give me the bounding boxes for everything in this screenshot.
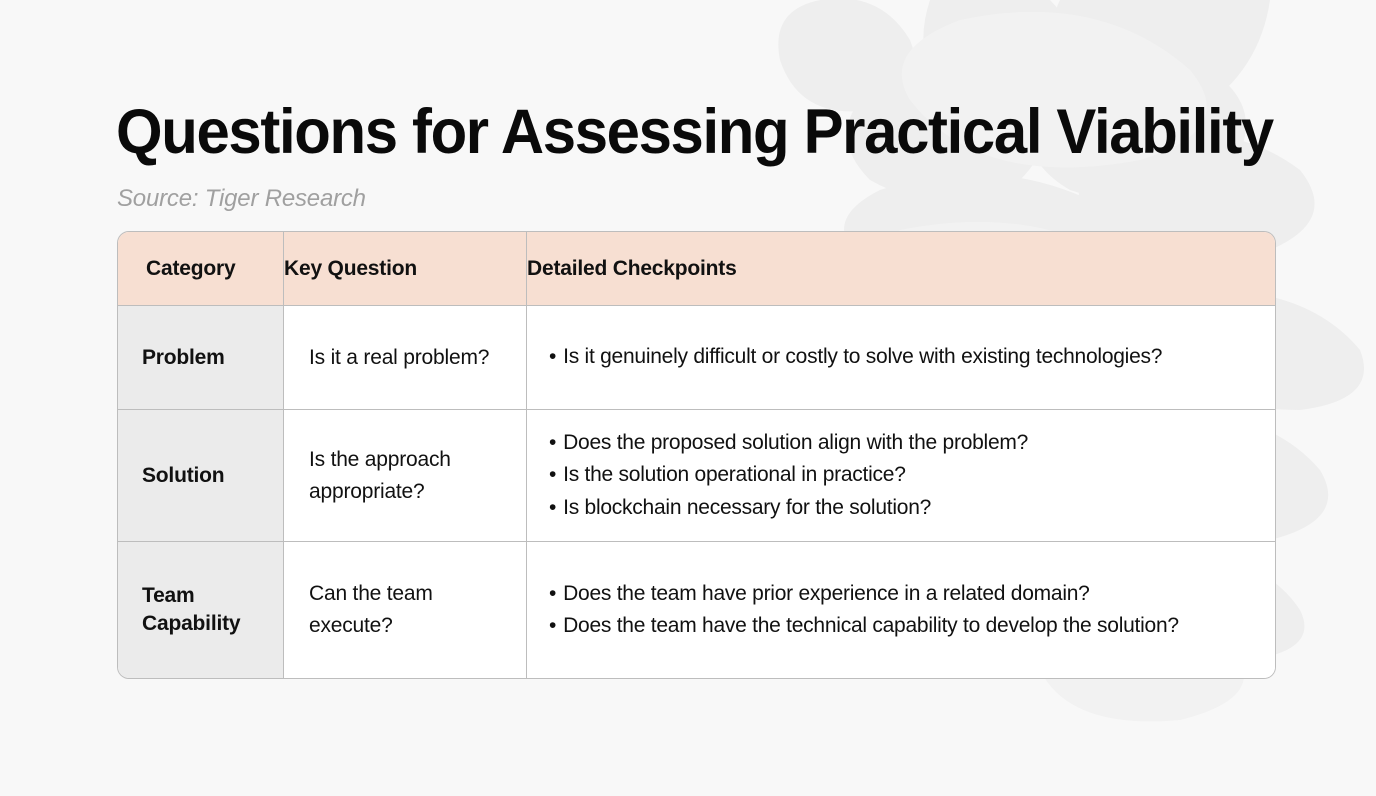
- page-subtitle-source: Source: Tiger Research: [117, 185, 366, 213]
- cell-key-question: Is the approach appropriate?: [284, 410, 527, 542]
- cell-category: Team Capability: [118, 542, 284, 678]
- cell-category: Problem: [118, 306, 284, 410]
- table-header-row: Category Key Question Detailed Checkpoin…: [118, 232, 1275, 306]
- cell-checkpoints: Does the proposed solution align with th…: [527, 410, 1275, 542]
- cell-checkpoints: Is it genuinely difficult or costly to s…: [527, 306, 1275, 410]
- slide-canvas: Questions for Assessing Practical Viabil…: [0, 0, 1376, 796]
- cell-checkpoints: Does the team have prior experience in a…: [527, 542, 1275, 678]
- cell-key-question: Can the team execute?: [284, 542, 527, 678]
- table-header: Category Key Question Detailed Checkpoin…: [118, 232, 1275, 306]
- column-header-key-question: Key Question: [284, 232, 527, 306]
- checkpoint-list: Is it genuinely difficult or costly to s…: [549, 341, 1253, 373]
- cell-key-question: Is it a real problem?: [284, 306, 527, 410]
- checkpoint-list: Does the proposed solution align with th…: [549, 427, 1253, 523]
- checkpoint-item: Does the team have the technical capabil…: [549, 610, 1253, 642]
- cell-category: Solution: [118, 410, 284, 542]
- column-header-category: Category: [118, 232, 284, 306]
- checkpoint-item: Does the team have prior experience in a…: [549, 578, 1253, 610]
- table-row: Problem Is it a real problem? Is it genu…: [118, 306, 1275, 410]
- checkpoint-item: Does the proposed solution align with th…: [549, 427, 1253, 459]
- checkpoint-list: Does the team have prior experience in a…: [549, 578, 1253, 642]
- column-header-detailed-checkpoints: Detailed Checkpoints: [527, 232, 1275, 306]
- table-row: Solution Is the approach appropriate? Do…: [118, 410, 1275, 542]
- table-body: Problem Is it a real problem? Is it genu…: [118, 306, 1275, 678]
- table-row: Team Capability Can the team execute? Do…: [118, 542, 1275, 678]
- checkpoint-item: Is blockchain necessary for the solution…: [549, 492, 1253, 524]
- viability-questions-table: Category Key Question Detailed Checkpoin…: [118, 232, 1275, 678]
- checkpoint-item: Is it genuinely difficult or costly to s…: [549, 341, 1253, 373]
- checkpoint-item: Is the solution operational in practice?: [549, 459, 1253, 491]
- page-title: Questions for Assessing Practical Viabil…: [116, 101, 1273, 164]
